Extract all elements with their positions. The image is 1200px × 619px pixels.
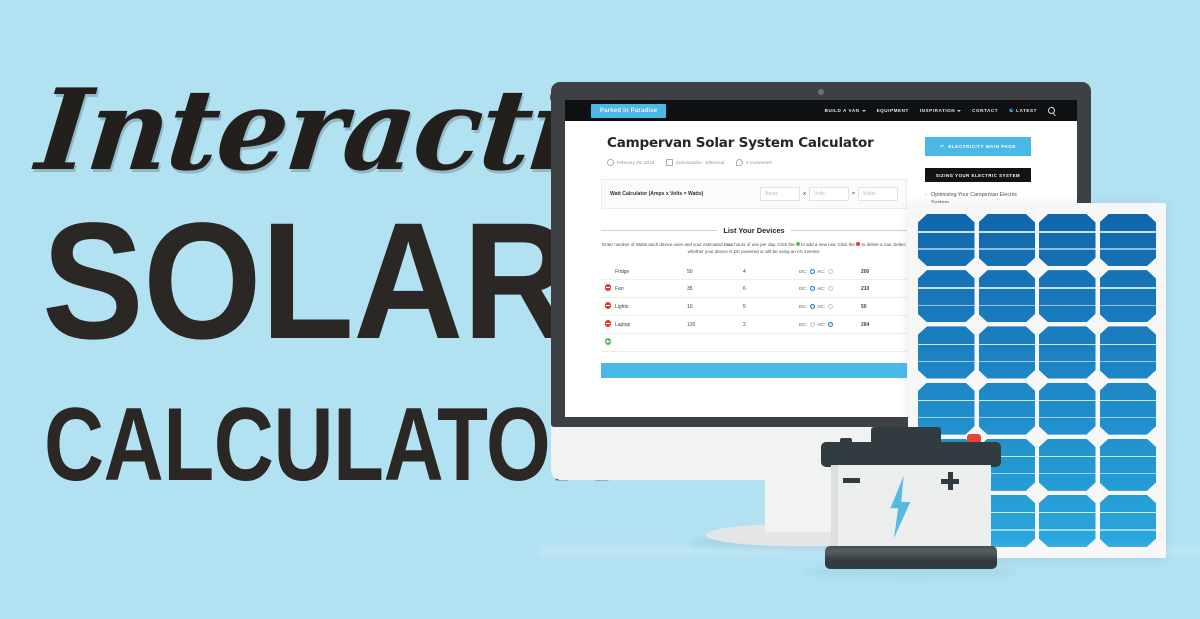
solar-cell <box>1039 326 1096 378</box>
hero-line-solar: SOLAR <box>42 206 474 359</box>
device-total: 200 <box>861 265 907 280</box>
device-power-select: DC: AC: <box>799 265 861 280</box>
meta-category[interactable]: Construction · Electrical <box>666 159 724 166</box>
positive-terminal-icon <box>941 472 959 490</box>
add-row-spacer <box>615 334 907 352</box>
hero-headline: Interactive SOLAR CALCULATOR <box>0 0 540 619</box>
sidebar-button-label: ELECTRICITY MAIN PAGE <box>948 144 1016 149</box>
solar-cell <box>979 270 1036 322</box>
nav-label: CONTACT <box>972 108 998 113</box>
cell-busbar <box>918 248 975 249</box>
table-row: Laptop 120 2 DC: AC: <box>601 316 907 334</box>
cell-busbar <box>979 417 1036 418</box>
solar-cell <box>1100 383 1157 435</box>
add-row-cell[interactable] <box>601 334 615 352</box>
cell-busbar <box>918 287 975 288</box>
site-topbar: Parked In Paradise BUILD A VAN EQUIPMENT… <box>565 100 1077 121</box>
cell-busbar <box>1039 361 1096 362</box>
meta-category-text: Construction · Electrical <box>676 160 725 165</box>
delete-row-icon[interactable] <box>605 320 611 326</box>
solar-cell <box>979 326 1036 378</box>
cell-busbar <box>1039 400 1096 401</box>
ac-radio[interactable] <box>828 286 833 291</box>
solar-cell <box>1039 439 1096 491</box>
cell-busbar <box>918 417 975 418</box>
post-content: Campervan Solar System Calculator Februa… <box>565 121 917 378</box>
battery-top-cap <box>821 442 1001 467</box>
device-hours[interactable]: 6 <box>743 280 799 298</box>
device-power-select: DC: AC: <box>799 280 861 298</box>
device-name[interactable]: Fan <box>615 280 687 298</box>
cell-busbar <box>1039 473 1096 474</box>
meta-comments[interactable]: 4 Comments <box>736 159 772 166</box>
row-delete-cell[interactable] <box>601 298 615 316</box>
cell-busbar <box>1039 305 1096 306</box>
row-delete-cell[interactable] <box>601 316 615 334</box>
cell-busbar <box>1039 231 1096 232</box>
delete-row-icon[interactable] <box>605 284 611 290</box>
watt-calculator-label: Watt Calculator (Amps x Volts = Watts) <box>610 191 703 197</box>
cell-busbar <box>1100 512 1157 513</box>
device-total: 210 <box>861 280 907 298</box>
folder-icon <box>666 159 673 166</box>
cell-busbar <box>918 344 975 345</box>
cell-busbar <box>918 231 975 232</box>
add-row-row <box>601 334 907 352</box>
device-hours[interactable]: 4 <box>743 265 799 280</box>
site-logo[interactable]: Parked In Paradise <box>591 104 666 118</box>
cell-busbar <box>918 361 975 362</box>
nav-item-equipment[interactable]: EQUIPMENT <box>877 108 909 113</box>
watt-calculator-fields: Amps x Volts = Watts <box>760 187 898 201</box>
cell-busbar <box>1039 344 1096 345</box>
cell-busbar <box>1100 287 1157 288</box>
nav-item-inspiration[interactable]: INSPIRATION <box>920 108 961 113</box>
page-title: Campervan Solar System Calculator <box>607 135 917 151</box>
device-hours[interactable]: 5 <box>743 298 799 316</box>
device-total: 264 <box>861 316 907 334</box>
equals-operator: = <box>852 191 855 197</box>
device-name[interactable]: Fridge <box>615 265 687 280</box>
cell-busbar <box>1100 456 1157 457</box>
dc-radio[interactable] <box>810 322 815 327</box>
dc-radio[interactable] <box>810 286 815 291</box>
post-meta: February 25, 2018 Construction · Electri… <box>607 159 917 166</box>
poster-canvas: Interactive SOLAR CALCULATOR Parked In P… <box>0 0 1200 619</box>
ac-label: AC: <box>817 304 825 309</box>
cell-busbar <box>979 361 1036 362</box>
chevron-down-icon <box>957 110 961 112</box>
cell-busbar <box>1039 529 1096 530</box>
main-navigation: BUILD A VAN EQUIPMENT INSPIRATION CONTAC… <box>825 107 1055 114</box>
cell-busbar <box>1100 473 1157 474</box>
cell-busbar <box>1039 417 1096 418</box>
solar-cell <box>1039 214 1096 266</box>
cell-busbar <box>1100 305 1157 306</box>
nav-label: LATEST <box>1016 108 1037 113</box>
negative-terminal-icon <box>843 478 860 483</box>
cell-busbar <box>1100 344 1157 345</box>
comment-icon <box>736 159 743 166</box>
solar-cell <box>1100 439 1157 491</box>
device-hours[interactable]: 2 <box>743 316 799 334</box>
meta-comments-text: 4 Comments <box>746 160 772 165</box>
device-watts[interactable]: 35 <box>687 280 743 298</box>
devices-table: Fridge 50 4 DC: AC: <box>601 265 907 353</box>
row-delete-cell <box>601 265 615 280</box>
nav-item-build-a-van[interactable]: BUILD A VAN <box>825 108 866 113</box>
divider-left <box>601 230 717 231</box>
device-watts[interactable]: 120 <box>687 316 743 334</box>
instructions-part-1: Enter number of Watts each device uses a… <box>602 242 724 247</box>
hero-line-interactive: Interactive <box>32 78 513 184</box>
nav-label: BUILD A VAN <box>825 108 860 113</box>
chevron-left-icon: ‹ <box>925 192 927 198</box>
solar-cell <box>1039 383 1096 435</box>
cell-busbar <box>1039 287 1096 288</box>
webcam-icon <box>818 89 824 95</box>
ac-radio[interactable] <box>828 269 833 274</box>
watt-calculator: Watt Calculator (Amps x Volts = Watts) A… <box>601 179 907 209</box>
solar-cell <box>918 326 975 378</box>
ac-label: AC: <box>817 322 825 327</box>
dc-radio[interactable] <box>810 269 815 274</box>
cell-busbar <box>979 248 1036 249</box>
sidebar-section-header: SIZING YOUR ELECTRIC SYSTEM <box>925 168 1031 182</box>
electricity-main-page-button[interactable]: ↶ ELECTRICITY MAIN PAGE <box>925 137 1031 156</box>
ac-label: AC: <box>817 286 825 291</box>
ac-radio[interactable] <box>828 322 833 327</box>
cell-busbar <box>918 400 975 401</box>
cell-busbar <box>1039 512 1096 513</box>
solar-cell <box>1100 495 1157 547</box>
device-watts[interactable]: 50 <box>687 265 743 280</box>
search-icon[interactable] <box>1048 107 1055 114</box>
solar-cell <box>918 214 975 266</box>
cell-busbar <box>918 305 975 306</box>
nav-label: EQUIPMENT <box>877 108 909 113</box>
results-banner <box>601 363 907 378</box>
cell-busbar <box>979 344 1036 345</box>
solar-cell <box>918 270 975 322</box>
hero-line-calculator: CALCULATOR <box>44 398 428 494</box>
solar-cell <box>979 214 1036 266</box>
row-delete-cell[interactable] <box>601 280 615 298</box>
table-row: Fan 35 6 DC: AC: <box>601 280 907 298</box>
meta-date-text: February 25, 2018 <box>617 160 655 165</box>
cell-busbar <box>979 231 1036 232</box>
delete-row-icon[interactable] <box>605 302 611 308</box>
dc-label: DC: <box>799 322 807 327</box>
solar-cell <box>1100 214 1157 266</box>
solar-cell <box>1039 495 1096 547</box>
cell-busbar <box>1100 529 1157 530</box>
device-name[interactable]: Lights <box>615 298 687 316</box>
nav-item-contact[interactable]: CONTACT <box>972 108 998 113</box>
solar-cell <box>1039 270 1096 322</box>
cell-busbar <box>1100 417 1157 418</box>
dc-label: DC: <box>799 269 807 274</box>
dc-label: DC: <box>799 304 807 309</box>
instructions-bold: max <box>724 242 733 247</box>
device-name[interactable]: Laptop <box>615 316 687 334</box>
cell-busbar <box>1100 248 1157 249</box>
floor-highlight <box>540 548 1200 554</box>
nav-item-latest[interactable]: ☯ LATEST <box>1009 108 1037 114</box>
cell-busbar <box>1039 248 1096 249</box>
cell-busbar <box>979 287 1036 288</box>
table-row: Lights 10 5 DC: AC: <box>601 298 907 316</box>
solar-cell <box>1100 326 1157 378</box>
instructions-part-3: to add a new row. Click the <box>800 242 856 247</box>
device-power-select: DC: AC: <box>799 316 861 334</box>
instructions-part-2: hours of use per day. Click the <box>733 242 796 247</box>
device-watts[interactable]: 10 <box>687 298 743 316</box>
watts-output[interactable]: Watts <box>858 187 898 201</box>
cell-busbar <box>1039 456 1096 457</box>
devices-instructions: Enter number of Watts each device uses a… <box>601 242 907 256</box>
amps-input[interactable]: Amps <box>760 187 800 201</box>
dc-radio[interactable] <box>810 304 815 309</box>
nav-label: INSPIRATION <box>920 108 955 113</box>
back-arrow-icon: ↶ <box>940 144 944 150</box>
device-total: 50 <box>861 298 907 316</box>
devices-heading: List Your Devices <box>723 226 784 235</box>
bulb-icon: ☯ <box>1009 108 1014 114</box>
cell-busbar <box>979 400 1036 401</box>
cell-busbar <box>1100 231 1157 232</box>
solar-cell <box>1100 270 1157 322</box>
ac-label: AC: <box>817 269 825 274</box>
device-power-select: DC: AC: <box>799 298 861 316</box>
cell-busbar <box>1100 361 1157 362</box>
chevron-down-icon <box>862 110 866 112</box>
meta-date: February 25, 2018 <box>607 159 654 166</box>
table-row: Fridge 50 4 DC: AC: <box>601 265 907 280</box>
add-row-icon[interactable] <box>605 338 611 344</box>
divider-right <box>791 230 907 231</box>
devices-section-header: List Your Devices <box>601 226 907 235</box>
clock-icon <box>607 159 614 166</box>
cell-busbar <box>979 305 1036 306</box>
dc-label: DC: <box>799 286 807 291</box>
volts-input[interactable]: Volts <box>809 187 849 201</box>
ac-radio[interactable] <box>828 304 833 309</box>
cell-busbar <box>1100 400 1157 401</box>
multiply-operator: x <box>803 191 806 197</box>
